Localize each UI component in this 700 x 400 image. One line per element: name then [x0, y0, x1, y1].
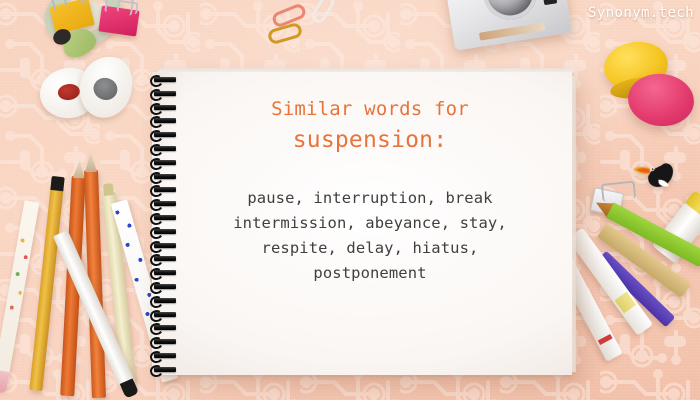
synonym-line: intermission, abeyance, stay, — [190, 211, 550, 236]
screenshot-stage: Similar words for suspension: pause, int… — [0, 0, 700, 400]
heading-prefix: Similar words for — [190, 96, 550, 122]
toucan-sticker — [631, 154, 679, 193]
spiral-ring — [150, 255, 180, 261]
spiral-ring — [150, 186, 180, 192]
synonym-list: pause, interruption, break intermission,… — [190, 186, 550, 286]
synonym-line: respite, delay, hiatus, — [190, 236, 550, 261]
spiral-ring — [150, 117, 180, 123]
spiral-binding — [150, 76, 184, 372]
synonym-line: postponement — [190, 261, 550, 286]
page-edge-top — [155, 68, 576, 74]
camera-grip-strip — [479, 22, 545, 40]
spiral-ring — [150, 90, 180, 96]
spiral-ring — [150, 159, 180, 165]
spiral-ring — [150, 76, 180, 82]
page-content: Similar words for suspension: pause, int… — [190, 96, 550, 286]
spiral-ring — [150, 269, 180, 275]
spiral-ring — [150, 214, 180, 220]
spiral-ring — [150, 324, 180, 330]
spiral-ring — [150, 338, 180, 344]
spiral-ring — [150, 352, 180, 358]
synonym-line: pause, interruption, break — [190, 186, 550, 211]
spiral-ring — [150, 242, 180, 248]
spiral-ring — [150, 228, 180, 234]
heading-target-word: suspension: — [190, 124, 550, 156]
spiral-ring — [150, 145, 180, 151]
page-edge-right — [571, 76, 576, 372]
spiral-ring — [150, 283, 180, 289]
spiral-ring — [150, 297, 180, 303]
binder-clip-pink — [98, 5, 139, 36]
site-logo[interactable]: Synonym.tech — [588, 5, 694, 21]
spiral-ring — [150, 366, 180, 372]
spiral-ring — [150, 173, 180, 179]
spiral-ring — [150, 200, 180, 206]
spiral-ring — [150, 311, 180, 317]
spiral-ring — [150, 104, 180, 110]
spiral-ring — [150, 131, 180, 137]
